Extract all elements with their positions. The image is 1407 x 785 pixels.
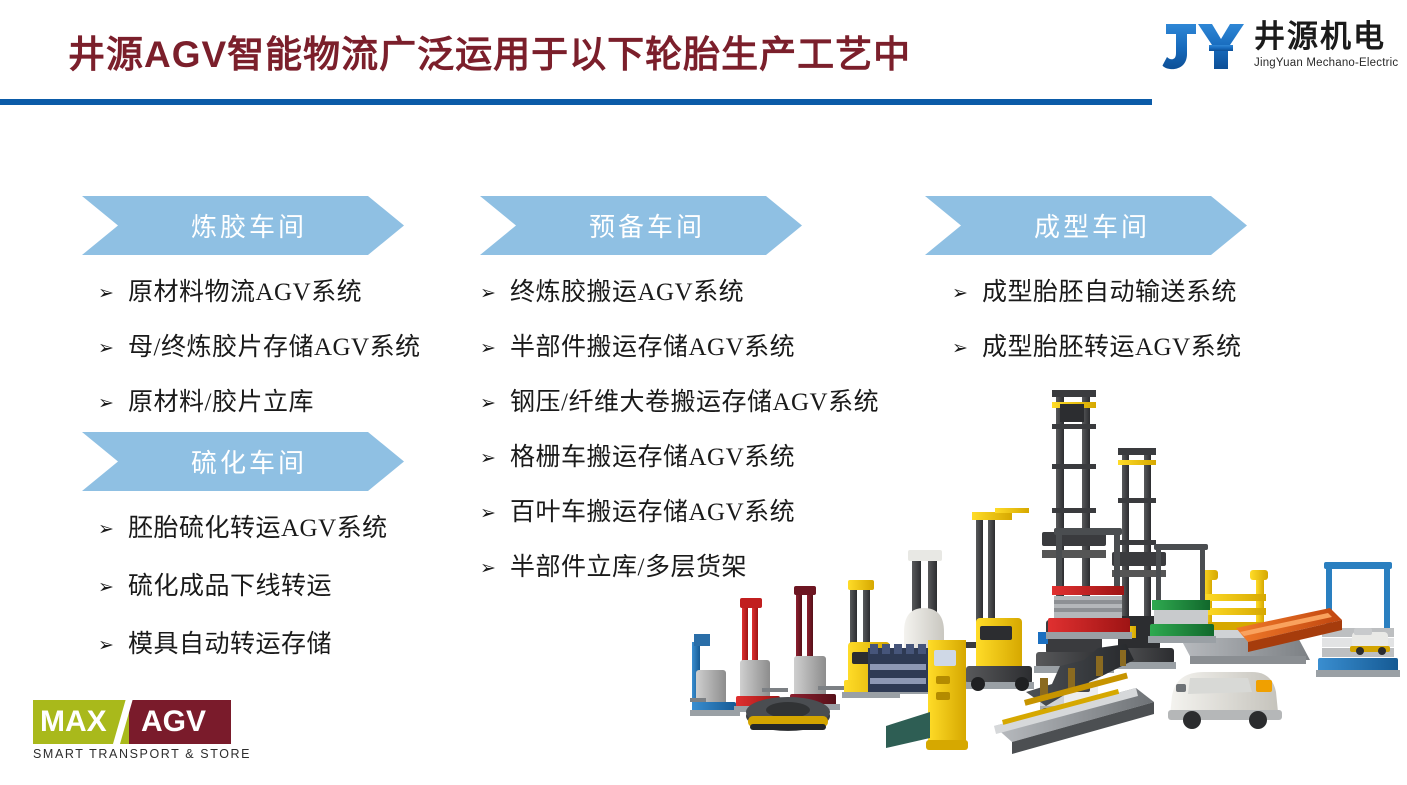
jy-monogram-icon — [1162, 20, 1246, 72]
section-banner-mixing: 炼胶车间 — [82, 196, 404, 255]
section-banner-forming: 成型车间 — [925, 196, 1247, 255]
agv-unit-engine-carrier — [868, 640, 968, 750]
bullet-list-forming: ➢ 成型胎胚自动输送系统 ➢ 成型胎胚转运AGV系统 — [952, 272, 1242, 382]
list-item: ➢ 胚胎硫化转运AGV系统 — [98, 508, 388, 544]
list-item-label: 原材料物流AGV系统 — [128, 272, 362, 308]
arrow-bullet-icon: ➢ — [480, 559, 510, 578]
jy-company-en: JingYuan Mechano-Electric — [1254, 57, 1398, 69]
list-item-label: 母/终炼胶片存储AGV系统 — [128, 327, 421, 363]
list-item: ➢ 半部件搬运存储AGV系统 — [480, 327, 879, 363]
list-item-label: 成型胎胚自动输送系统 — [982, 272, 1237, 308]
arrow-bullet-icon: ➢ — [480, 449, 510, 468]
agv-unit-blue-stacker — [690, 634, 740, 716]
bullet-list-vulcanizing: ➢ 胚胎硫化转运AGV系统 ➢ 硫化成品下线转运 ➢ 模具自动转运存储 — [98, 508, 388, 682]
list-item: ➢ 原材料物流AGV系统 — [98, 272, 421, 308]
arrow-bullet-icon: ➢ — [98, 520, 128, 539]
maxagv-word-max: MAX — [40, 707, 107, 737]
page-title: 井源AGV智能物流广泛运用于以下轮胎生产工艺中 — [68, 24, 911, 78]
list-item-label: 硫化成品下线转运 — [128, 566, 332, 602]
agv-unit-green-shuttle — [1148, 544, 1216, 643]
agv-unit-red-shuttle — [1046, 528, 1132, 639]
list-item-label: 原材料/胶片立库 — [128, 382, 314, 418]
arrow-bullet-icon: ➢ — [480, 284, 510, 303]
arrow-bullet-icon: ➢ — [98, 636, 128, 655]
list-item: ➢ 成型胎胚转运AGV系统 — [952, 327, 1242, 363]
agv-unit-disc-lifter — [746, 697, 830, 731]
list-item: ➢ 母/终炼胶片存储AGV系统 — [98, 327, 421, 363]
title-divider — [0, 99, 1152, 105]
maxagv-logo: MAX AGV SMART TRANSPORT & STORE — [33, 700, 231, 761]
list-item: ➢ 原材料/胶片立库 — [98, 382, 421, 418]
list-item-label: 半部件搬运存储AGV系统 — [510, 327, 795, 363]
section-banner-vulcanizing: 硫化车间 — [82, 432, 404, 491]
arrow-bullet-icon: ➢ — [98, 284, 128, 303]
agv-fleet-photo-front — [740, 630, 1160, 780]
arrow-bullet-icon: ➢ — [480, 504, 510, 523]
maxagv-right-block: AGV — [129, 700, 231, 744]
list-item: ➢ 硫化成品下线转运 — [98, 566, 388, 602]
agv-fleet-illustration-front — [740, 630, 1160, 780]
list-item: ➢ 终炼胶搬运AGV系统 — [480, 272, 879, 308]
maxagv-tagline: SMART TRANSPORT & STORE — [33, 747, 231, 761]
jy-company-cn: 井源机电 — [1254, 18, 1398, 56]
section-banner-label: 预备车间 — [589, 207, 705, 244]
bullet-list-mixing: ➢ 原材料物流AGV系统 ➢ 母/终炼胶片存储AGV系统 ➢ 原材料/胶片立库 — [98, 272, 421, 437]
section-banner-preparation: 预备车间 — [480, 196, 802, 255]
arrow-bullet-icon: ➢ — [952, 339, 982, 358]
maxagv-logo-bar: MAX AGV — [33, 700, 231, 744]
list-item: ➢ 模具自动转运存储 — [98, 624, 388, 660]
list-item-label: 模具自动转运存储 — [128, 624, 332, 660]
jingyuan-logo: 井源机电 JingYuan Mechano-Electric — [1162, 18, 1397, 90]
agv-unit-orange-conveyor — [1236, 608, 1342, 652]
list-item-label: 成型胎胚转运AGV系统 — [982, 327, 1242, 363]
list-item: ➢ 成型胎胚自动输送系统 — [952, 272, 1242, 308]
agv-unit-mini-cart — [1350, 628, 1390, 655]
arrow-bullet-icon: ➢ — [952, 284, 982, 303]
arrow-bullet-icon: ➢ — [480, 394, 510, 413]
section-banner-label: 成型车间 — [1034, 207, 1150, 244]
arrow-bullet-icon: ➢ — [98, 339, 128, 358]
section-banner-label: 炼胶车间 — [191, 207, 307, 244]
agv-unit-flatbed-transporter — [994, 644, 1154, 754]
arrow-bullet-icon: ➢ — [98, 394, 128, 413]
arrow-bullet-icon: ➢ — [98, 578, 128, 597]
arrow-bullet-icon: ➢ — [480, 339, 510, 358]
maxagv-word-agv: AGV — [141, 707, 206, 737]
list-item-label: 终炼胶搬运AGV系统 — [510, 272, 744, 308]
section-banner-label: 硫化车间 — [191, 443, 307, 480]
agv-unit-tow-tractor — [1168, 672, 1282, 729]
list-item-label: 胚胎硫化转运AGV系统 — [128, 508, 388, 544]
